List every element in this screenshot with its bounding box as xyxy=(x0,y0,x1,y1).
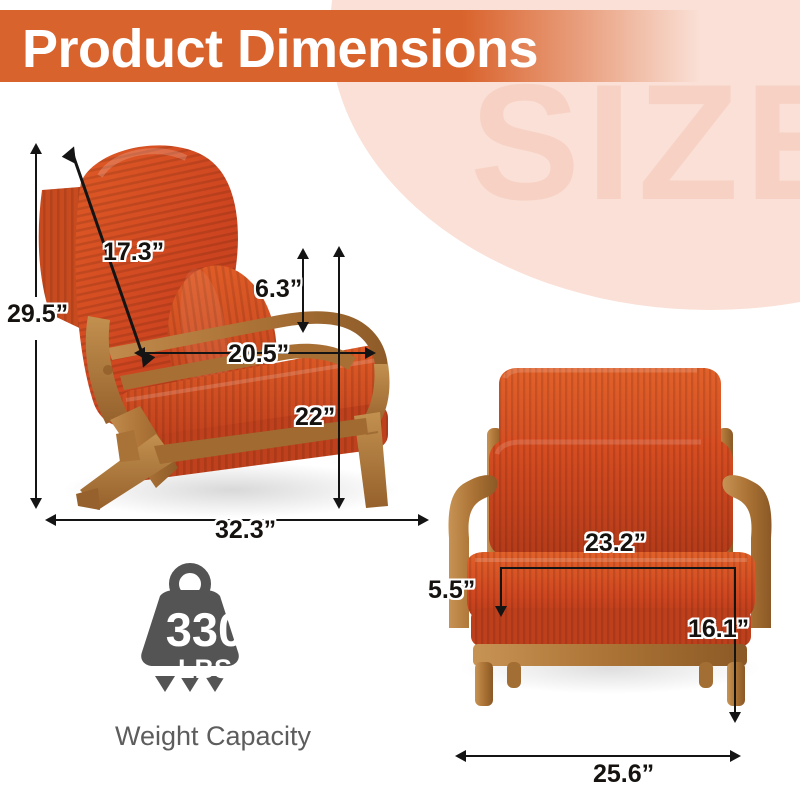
dim-overall-width: 25.6” xyxy=(593,762,654,787)
overall-width-arrow-left xyxy=(455,750,466,762)
cushion-thickness-arrow-down xyxy=(495,606,507,617)
cushion-thickness-line xyxy=(500,567,502,610)
arm-clearance-arrow-up xyxy=(297,248,309,259)
dim-arm-clearance: 6.3” xyxy=(255,277,302,302)
weight-capacity-number: 330 xyxy=(120,606,290,653)
arm-height-arrow-up xyxy=(333,246,345,257)
dim-seat-depth: 20.5” xyxy=(228,342,289,367)
dim-overall-depth: 32.3” xyxy=(215,518,276,543)
overall-depth-arrow-right xyxy=(418,514,429,526)
seat-height-arrow-down xyxy=(729,712,741,723)
seat-depth-arrow-left xyxy=(134,347,145,359)
weight-capacity-unit: LBS xyxy=(120,656,290,683)
seat-depth-arrow-right xyxy=(365,347,376,359)
overall-height-line xyxy=(35,152,37,297)
overall-width-arrow-right xyxy=(730,750,741,762)
page-title: Product Dimensions xyxy=(22,22,538,76)
overall-height-line-lower xyxy=(35,340,37,500)
infographic-canvas: SIZE Product Dimensions xyxy=(0,0,800,800)
dim-arm-height: 22” xyxy=(295,405,335,430)
weight-capacity-caption: Weight Capacity xyxy=(103,723,323,750)
seat-width-line xyxy=(500,567,735,569)
weight-capacity-badge: 330 LBS Weight Capacity xyxy=(120,560,360,760)
dim-overall-height: 29.5” xyxy=(7,302,68,327)
arm-clearance-line xyxy=(302,258,304,324)
arm-height-arrow-down xyxy=(333,498,345,509)
size-watermark: SIZE xyxy=(470,60,800,225)
header-banner: Product Dimensions xyxy=(0,10,700,82)
overall-depth-arrow-left xyxy=(45,514,56,526)
overall-height-arrow-up xyxy=(30,143,42,154)
arm-clearance-arrow-down xyxy=(297,322,309,333)
arm-height-line xyxy=(338,256,340,500)
dim-cushion-thickness: 5.5” xyxy=(428,578,475,603)
overall-height-arrow-down xyxy=(30,498,42,509)
dim-seat-width: 23.2” xyxy=(585,531,646,556)
overall-width-line xyxy=(465,755,732,757)
dim-seat-height: 16.1” xyxy=(688,617,749,642)
dim-backrest-height: 17.3” xyxy=(103,240,164,265)
